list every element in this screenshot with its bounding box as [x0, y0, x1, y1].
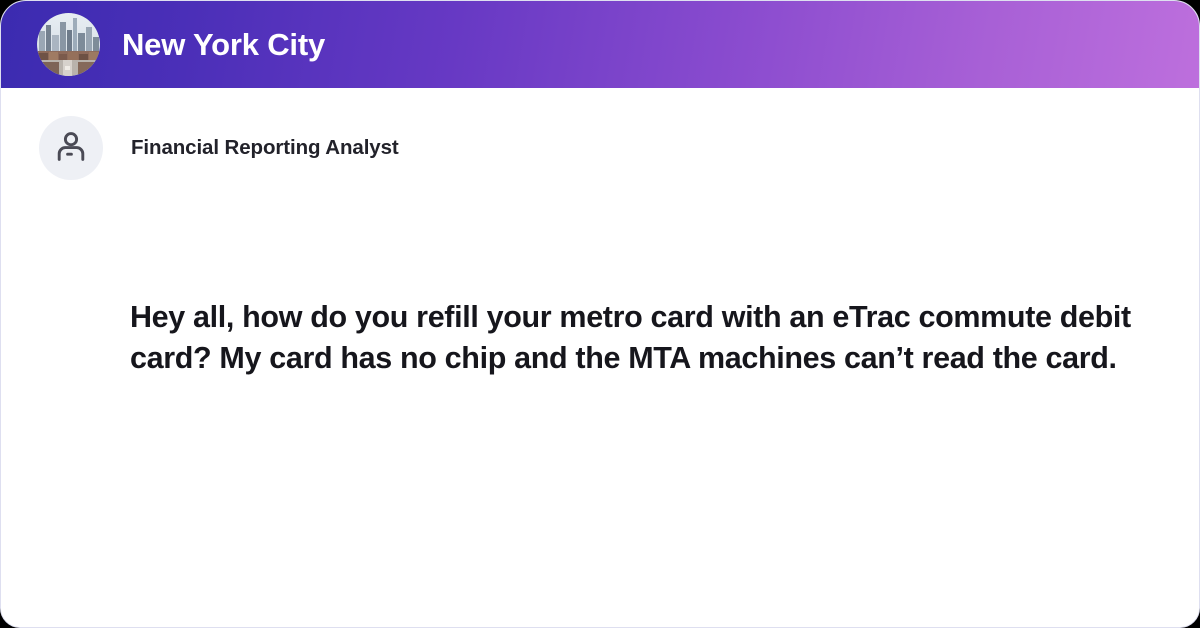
- bowl-header[interactable]: New York City: [1, 1, 1199, 88]
- fishbowl-post-card: New York City Financial Reporting Analys…: [0, 0, 1200, 628]
- post-author-row: Financial Reporting Analyst: [39, 116, 399, 180]
- post-body: Financial Reporting Analyst Hey all, how…: [1, 88, 1199, 628]
- post-text: Hey all, how do you refill your metro ca…: [130, 297, 1152, 379]
- author-title: Financial Reporting Analyst: [131, 136, 399, 160]
- person-icon: [54, 129, 88, 168]
- bowl-title: New York City: [122, 29, 325, 60]
- new-york-city-skyline-photo: [37, 13, 100, 76]
- author-avatar: [39, 116, 103, 180]
